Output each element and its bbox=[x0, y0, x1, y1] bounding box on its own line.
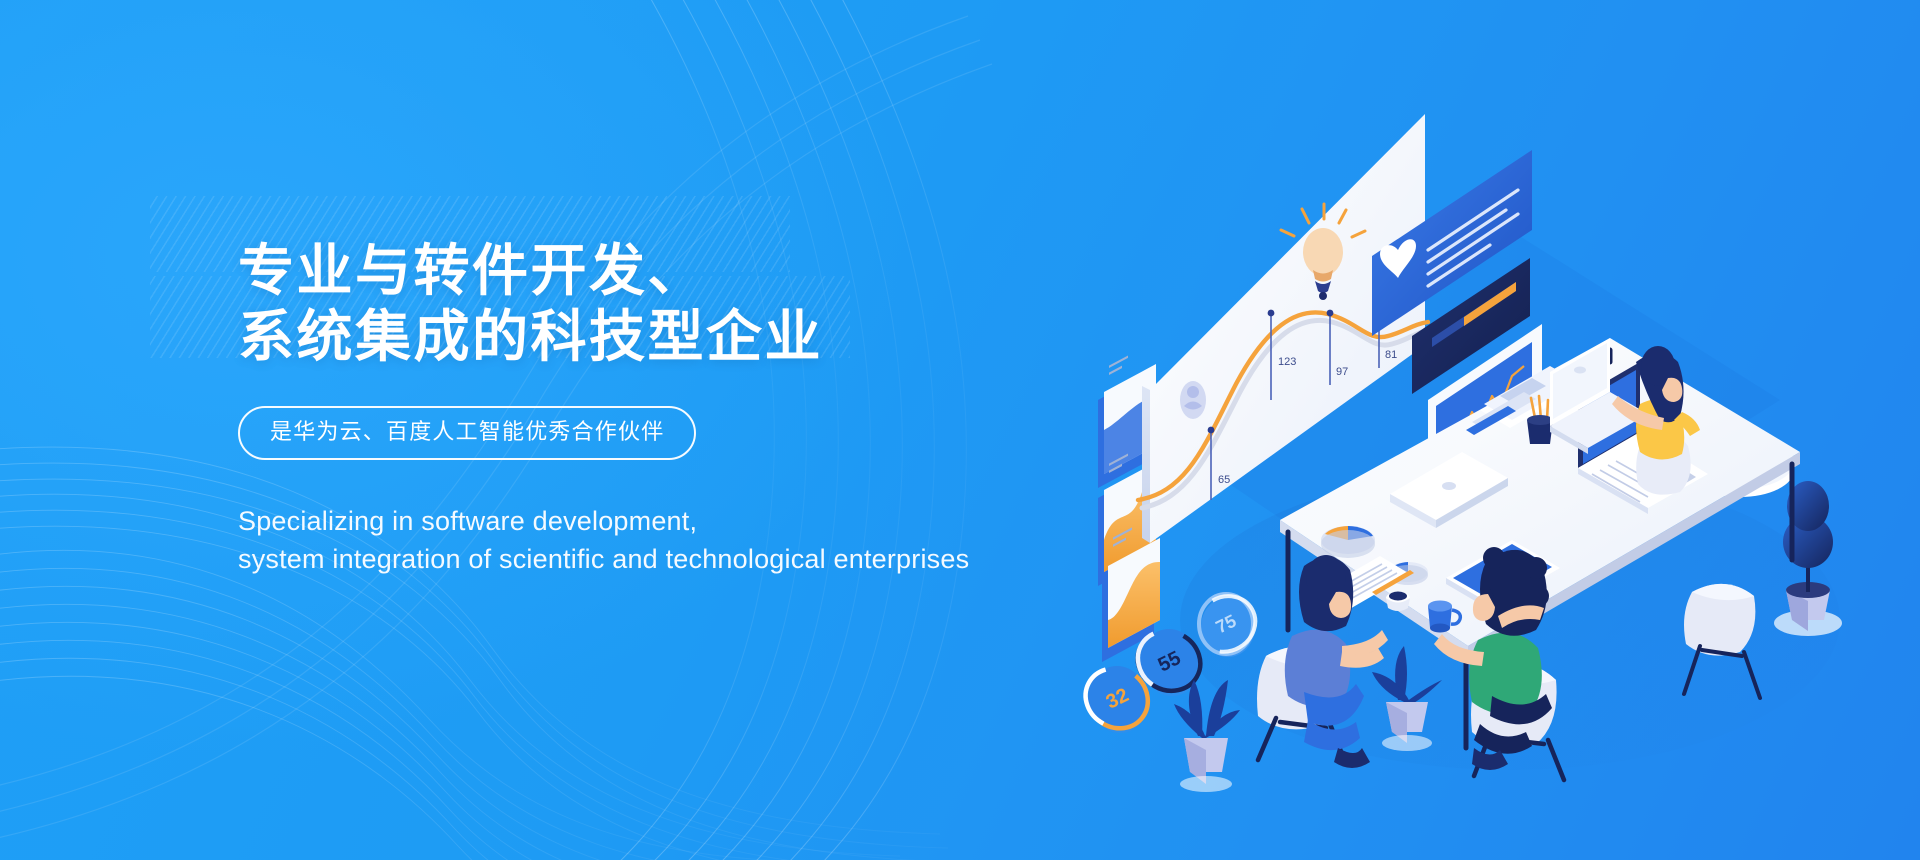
avatar bbox=[1180, 381, 1206, 419]
headline-line-2: 系统集成的科技型企业 bbox=[238, 304, 1178, 370]
subtitle-line-1: Specializing in software development, bbox=[238, 502, 1178, 540]
hero-banner: 专业与转件开发、 系统集成的科技型企业 是华为云、百度人工智能优秀合作伙伴 Sp… bbox=[0, 0, 1920, 860]
headline-line-1: 专业与转件开发、 bbox=[238, 238, 1178, 304]
chart-label-65: 65 bbox=[1218, 474, 1230, 486]
coffee-mug-dark bbox=[1386, 592, 1410, 612]
hero-illustration: 65 123 97 81 bbox=[1080, 100, 1910, 760]
hero-copy-block: 专业与转件开发、 系统集成的科技型企业 是华为云、百度人工智能优秀合作伙伴 Sp… bbox=[238, 238, 1178, 579]
partner-badge[interactable]: 是华为云、百度人工智能优秀合作伙伴 bbox=[238, 406, 696, 460]
chart-label-123: 123 bbox=[1278, 356, 1296, 368]
pencil-cup bbox=[1527, 396, 1553, 444]
page-title: 专业与转件开发、 系统集成的科技型企业 bbox=[238, 238, 1178, 370]
hero-subtitle: Specializing in software development, sy… bbox=[238, 502, 1178, 579]
pie-chart-large bbox=[1321, 526, 1375, 558]
subtitle-line-2: system integration of scientific and tec… bbox=[238, 540, 1178, 578]
chart-label-97: 97 bbox=[1336, 366, 1348, 378]
chart-label-81: 81 bbox=[1385, 349, 1397, 361]
